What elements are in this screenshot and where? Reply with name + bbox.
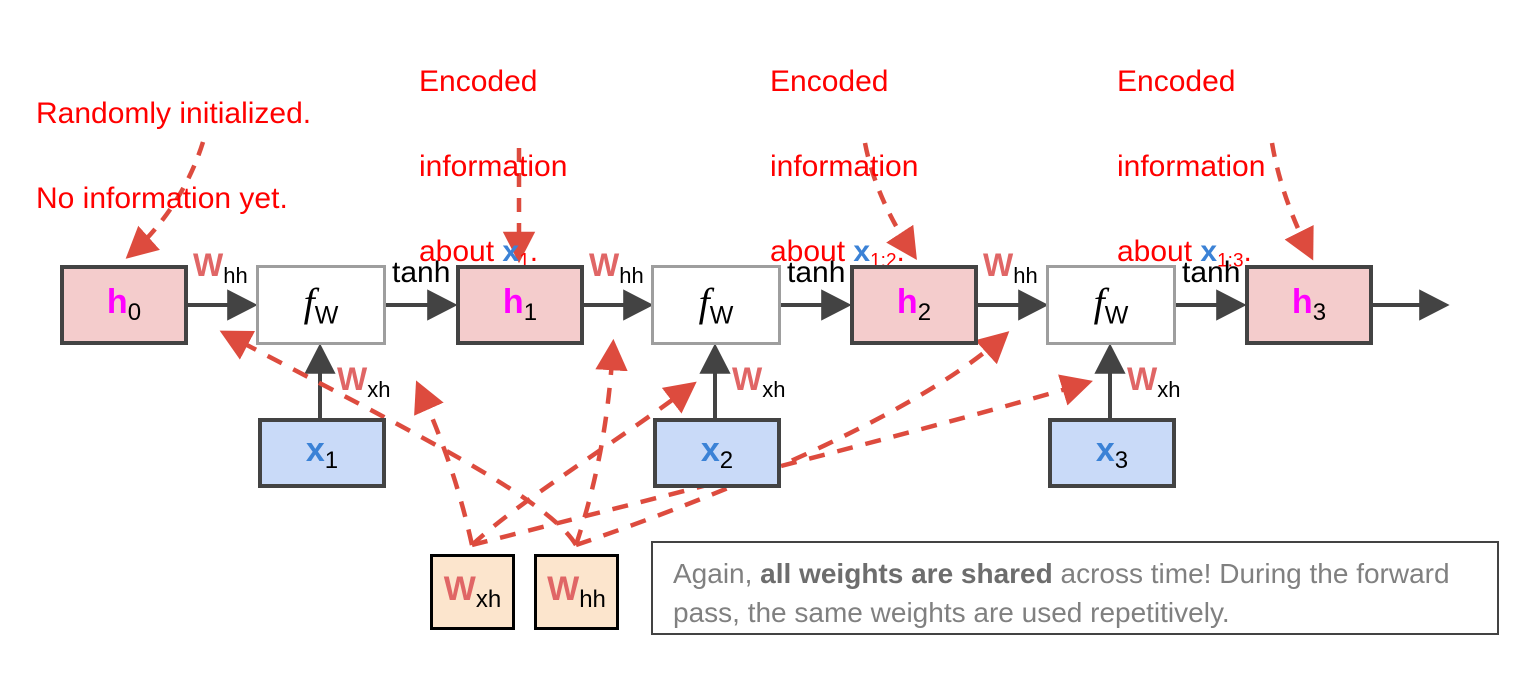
input-box-x1[interactable]: x1 xyxy=(258,418,386,488)
hidden-state-label-h2: h2 xyxy=(897,285,931,325)
hidden-state-h0-sub: 0 xyxy=(128,299,141,326)
weight-wxh-2-sub: xh xyxy=(762,377,785,402)
weight-wxh-3-base: W xyxy=(1127,361,1157,397)
function-label-fw-2: fW xyxy=(699,279,734,331)
annotation-h0: Randomly initialized. No information yet… xyxy=(36,50,311,263)
function-fw-3-base: f xyxy=(1094,280,1105,325)
input-box-x2[interactable]: x2 xyxy=(653,418,781,488)
weight-label-wxh-3: Wxh xyxy=(1127,363,1180,401)
input-arrows xyxy=(320,349,1110,418)
function-fw-2-sub: W xyxy=(710,302,734,330)
weight-wxh-2-base: W xyxy=(732,361,762,397)
function-box-fw-1[interactable]: fW xyxy=(256,265,386,345)
weight-label-whh-2: Whh xyxy=(589,249,644,287)
annotation-h3-tail: . xyxy=(1244,235,1252,268)
note-bold: all weights are shared xyxy=(760,558,1053,589)
note-part1: Again, xyxy=(673,558,760,589)
annotation-h1-line2: information xyxy=(419,146,567,189)
input-x3-sub: 3 xyxy=(1115,447,1128,474)
hidden-state-box-h3[interactable]: h3 xyxy=(1245,265,1373,345)
input-x3-base: x xyxy=(1096,431,1115,469)
shared-weight-whh-sub: hh xyxy=(579,586,606,613)
input-x1-base: x xyxy=(306,431,325,469)
input-x1-sub: 1 xyxy=(325,447,338,474)
activation-label-tanh-2: tanh xyxy=(787,258,845,288)
weight-whh-3-base: W xyxy=(983,247,1013,283)
annotation-h1-tail: . xyxy=(530,235,538,268)
rnn-diagram-canvas: Randomly initialized. No information yet… xyxy=(0,0,1537,673)
hidden-state-label-h1: h1 xyxy=(503,285,537,325)
weight-whh-2-base: W xyxy=(589,247,619,283)
activation-label-tanh-1: tanh xyxy=(392,258,450,288)
hidden-state-h1-sub: 1 xyxy=(524,299,537,326)
weight-label-whh-3: Whh xyxy=(983,249,1038,287)
annotation-h2-tail: . xyxy=(897,235,905,268)
input-label-x1: x1 xyxy=(306,433,338,473)
function-fw-1-base: f xyxy=(304,280,315,325)
hidden-state-h3-sub: 3 xyxy=(1313,299,1326,326)
hidden-state-label-h0: h0 xyxy=(107,285,141,325)
hidden-state-box-h0[interactable]: h0 xyxy=(60,265,188,345)
shared-weight-wxh-base: W xyxy=(444,570,476,608)
shared-weight-box-whh[interactable]: Whh xyxy=(534,554,619,630)
annotation-h2-var: x xyxy=(853,235,870,268)
annotation-h3-line2: information xyxy=(1117,146,1265,189)
function-label-fw-1: fW xyxy=(304,279,339,331)
shared-weight-wxh-sub: xh xyxy=(476,586,501,613)
weight-wxh-1-base: W xyxy=(337,361,367,397)
hidden-state-h3-base: h xyxy=(1292,283,1313,321)
hidden-state-h2-base: h xyxy=(897,283,918,321)
function-fw-2-base: f xyxy=(699,280,710,325)
function-box-fw-2[interactable]: fW xyxy=(651,265,781,345)
function-fw-1-sub: W xyxy=(315,302,339,330)
weight-whh-3-sub: hh xyxy=(1013,263,1037,288)
hidden-state-h0-base: h xyxy=(107,283,128,321)
input-x2-sub: 2 xyxy=(720,447,733,474)
shared-weight-whh-base: W xyxy=(547,570,579,608)
weight-wxh-1-sub: xh xyxy=(367,377,390,402)
hidden-state-label-h3: h3 xyxy=(1292,285,1326,325)
shared-weight-label-whh: Whh xyxy=(547,572,606,612)
function-fw-3-sub: W xyxy=(1105,302,1129,330)
input-x2-base: x xyxy=(701,431,720,469)
function-label-fw-3: fW xyxy=(1094,279,1129,331)
hidden-state-box-h1[interactable]: h1 xyxy=(456,265,584,345)
annotation-h2-line1: Encoded xyxy=(770,61,918,104)
input-label-x3: x3 xyxy=(1096,433,1128,473)
annotation-h3-line1: Encoded xyxy=(1117,61,1265,104)
activation-label-tanh-3: tanh xyxy=(1182,258,1240,288)
weight-wxh-3-sub: xh xyxy=(1157,377,1180,402)
shared-weights-note: Again, all weights are shared across tim… xyxy=(651,541,1499,635)
weight-whh-1-base: W xyxy=(193,247,223,283)
hidden-state-h1-base: h xyxy=(503,283,524,321)
weight-label-wxh-1: Wxh xyxy=(337,363,390,401)
annotation-h0-line2: No information yet. xyxy=(36,178,311,221)
annotation-h0-line1: Randomly initialized. xyxy=(36,93,311,136)
weight-whh-2-sub: hh xyxy=(619,263,643,288)
annotation-h1-line1: Encoded xyxy=(419,61,567,104)
annotation-h1-var: x xyxy=(502,235,519,268)
input-box-x3[interactable]: x3 xyxy=(1048,418,1176,488)
input-label-x2: x2 xyxy=(701,433,733,473)
weight-label-wxh-2: Wxh xyxy=(732,363,785,401)
shared-weight-label-wxh: Wxh xyxy=(444,572,501,612)
function-box-fw-3[interactable]: fW xyxy=(1046,265,1176,345)
annotation-h2-line2: information xyxy=(770,146,918,189)
shared-weight-box-wxh[interactable]: Wxh xyxy=(430,554,515,630)
hidden-state-box-h2[interactable]: h2 xyxy=(850,265,978,345)
weight-whh-1-sub: hh xyxy=(223,263,247,288)
hidden-state-h2-sub: 2 xyxy=(918,299,931,326)
weight-label-whh-1: Whh xyxy=(193,249,248,287)
